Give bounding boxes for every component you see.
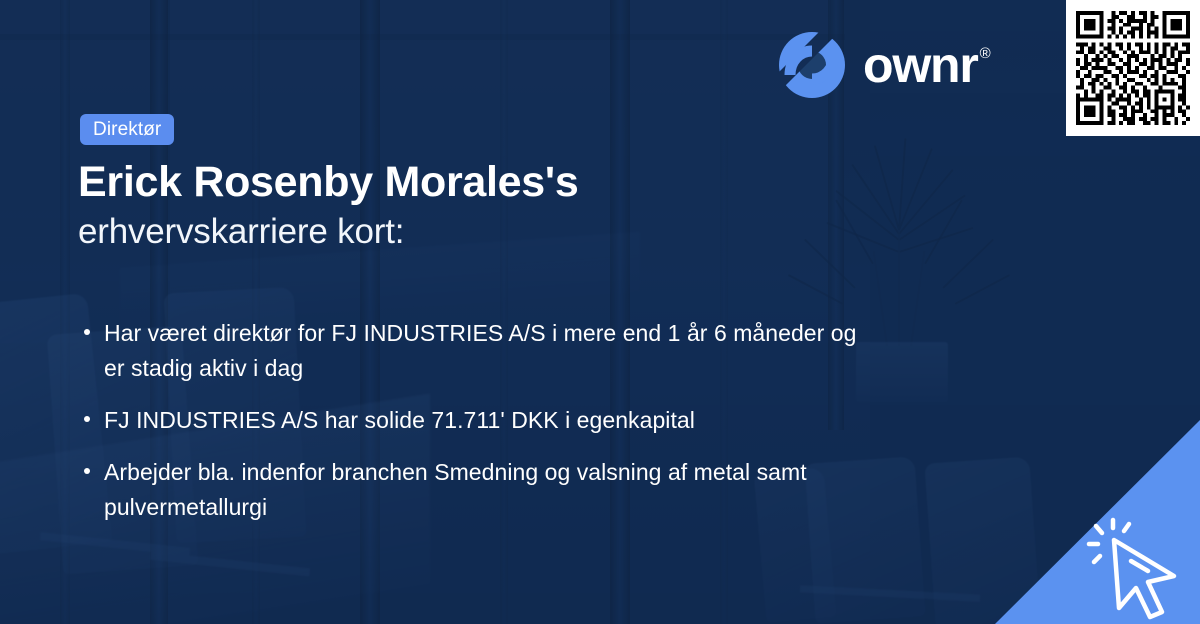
ownr-wordmark-text: ownr (863, 42, 978, 88)
registered-trademark-icon: ® (980, 46, 991, 61)
qr-code-image (1076, 10, 1190, 126)
list-item-text: FJ INDUSTRIES A/S har solide 71.711' DKK… (104, 407, 695, 433)
list-item: FJ INDUSTRIES A/S har solide 71.711' DKK… (82, 403, 862, 438)
list-item-text: Har været direktør for FJ INDUSTRIES A/S… (104, 320, 856, 381)
page-title-name: Erick Rosenby Morales's (78, 158, 898, 206)
corner-wedge (0, 0, 1200, 624)
role-badge: Direktør (80, 114, 174, 145)
bullet-dot-icon (84, 468, 90, 474)
ownr-circle-swoosh-icon (778, 31, 846, 99)
list-item: Arbejder bla. indenfor branchen Smedning… (82, 455, 862, 525)
page-title-subtitle: erhvervskarriere kort: (78, 212, 898, 253)
career-facts-list: Har været direktør for FJ INDUSTRIES A/S… (82, 316, 862, 525)
ownr-business-card: Direktør Erick Rosenby Morales's erhverv… (0, 0, 1200, 624)
page-title: Erick Rosenby Morales's erhvervskarriere… (78, 158, 898, 253)
bullet-dot-icon (84, 329, 90, 335)
card-content: Direktør Erick Rosenby Morales's erhverv… (0, 0, 1200, 624)
list-item: Har været direktør for FJ INDUSTRIES A/S… (82, 316, 862, 386)
qr-code[interactable] (1066, 0, 1200, 136)
list-item-text: Arbejder bla. indenfor branchen Smedning… (104, 459, 807, 520)
click-cursor-icon (1086, 516, 1194, 620)
ownr-wordmark: ownr ® (863, 42, 991, 88)
ownr-logo: ownr ® (778, 31, 991, 99)
bullet-dot-icon (84, 416, 90, 422)
